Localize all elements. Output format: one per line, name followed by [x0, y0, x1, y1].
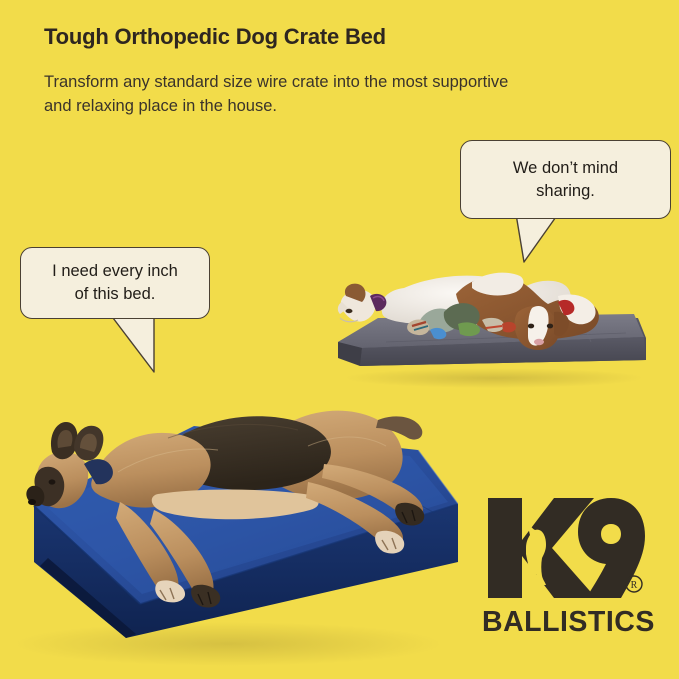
callout-tail-right	[500, 214, 580, 266]
callout-right-line1: We don’t mind	[513, 159, 618, 177]
letter-k	[488, 498, 596, 598]
headline-block: Tough Orthopedic Dog Crate Bed Transform…	[44, 24, 564, 118]
photo-blue-bed-shepherd	[8, 376, 458, 679]
photo-grey-bed-two-dogs	[326, 238, 656, 388]
brand-logo: R BALLISTICS	[482, 492, 652, 647]
callout-right-line2: sharing.	[536, 182, 595, 200]
page-subtitle: Transform any standard size wire crate i…	[44, 50, 519, 118]
callout-bubble-right: We don’t mind sharing.	[460, 140, 671, 219]
promotional-banner: Tough Orthopedic Dog Crate Bed Transform…	[0, 0, 679, 679]
callout-left-line1: I need every inch	[52, 262, 178, 280]
callout-left-line2: of this bed.	[75, 285, 156, 303]
callout-tail-left	[108, 314, 188, 374]
callout-bubble-left: I need every inch of this bed.	[20, 247, 210, 319]
page-title: Tough Orthopedic Dog Crate Bed	[44, 24, 564, 50]
brand-wordmark: BALLISTICS	[482, 604, 652, 639]
svg-text:R: R	[631, 580, 638, 591]
k9-logo-mark: R	[482, 492, 652, 604]
